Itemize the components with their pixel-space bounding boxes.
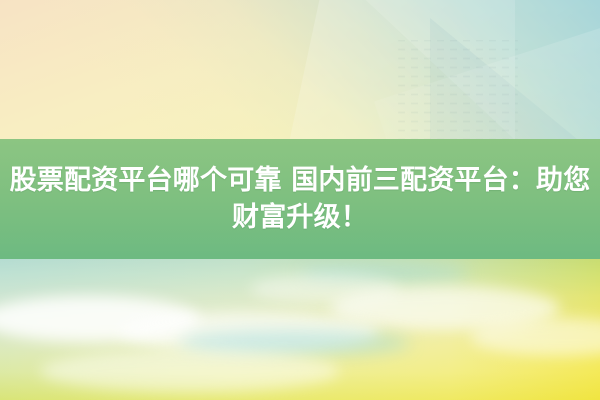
headline-band: 股票配资平台哪个可靠 国内前三配资平台：助您财富升级！: [0, 139, 600, 259]
banner-headline: 股票配资平台哪个可靠 国内前三配资平台：助您财富升级！: [0, 162, 600, 236]
cloud-wisp-blue: [300, 262, 470, 284]
decorative-text-texture: [398, 40, 518, 150]
cloud-wisp-blue: [180, 330, 410, 356]
promo-banner: 股票配资平台哪个可靠 国内前三配资平台：助您财富升级！: [0, 0, 600, 400]
